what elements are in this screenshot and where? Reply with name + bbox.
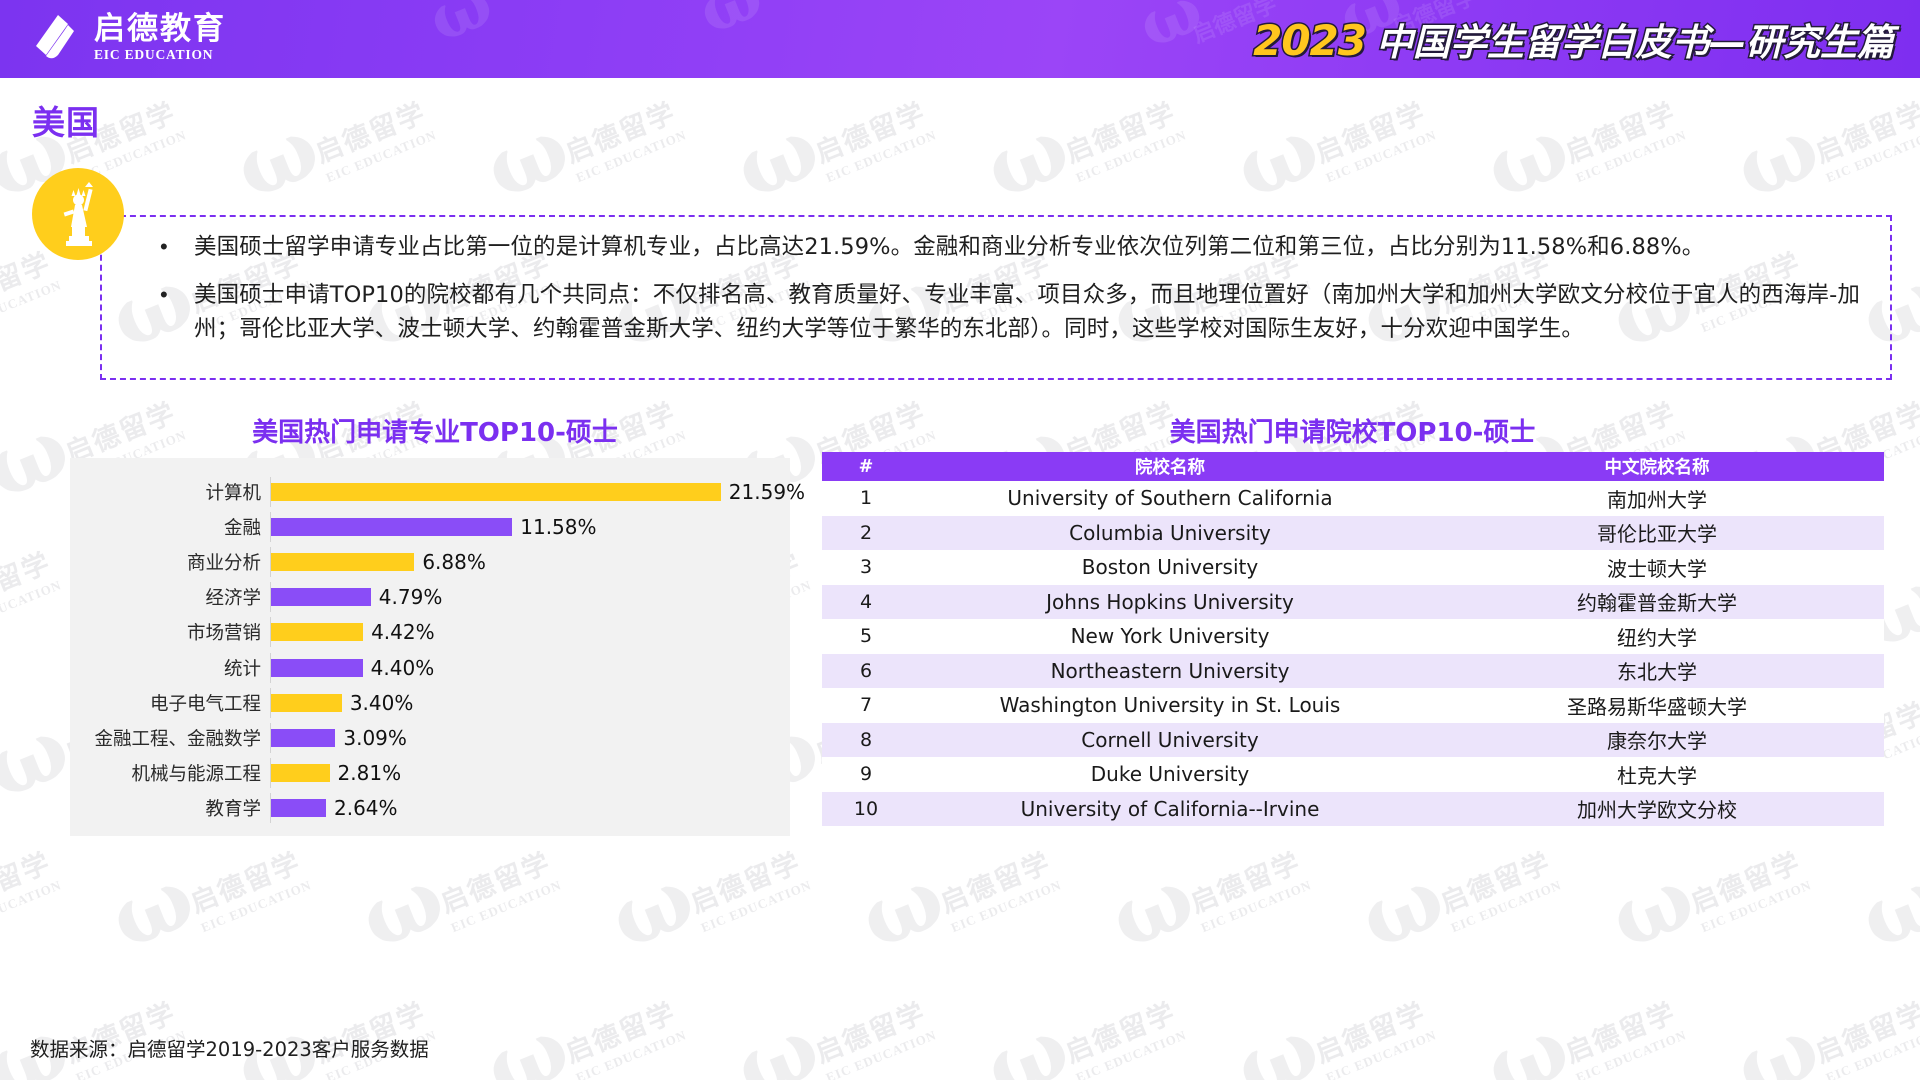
chart-bar[interactable] [271,694,342,712]
chart-bar[interactable] [271,729,335,747]
watermark-text: 启德留学EIC EDUCATION [1059,90,1189,186]
watermark-text: 启德留学EIC EDUCATION [1684,840,1814,936]
list-item: • 美国硕士申请TOP10的院校都有几个共同点：不仅排名高、教育质量好、专业丰富… [160,278,1860,346]
chart-bar[interactable] [271,588,371,606]
cell-english-name: New York University [910,619,1430,654]
chart-bar-row: 市场营销4.42% [70,617,790,647]
statue-of-liberty-icon [32,168,124,260]
chart-bar[interactable] [271,799,326,817]
watermark-u-icon: ω [1349,854,1455,962]
watermark-text: 启德留学EIC EDUCATION [1184,840,1314,936]
data-source-note: 数据来源：启德留学2019-2023客户服务数据 [30,1033,429,1062]
cell-english-name: Washington University in St. Louis [910,688,1430,723]
cell-rank: 4 [822,585,910,620]
logo-text-cn: 启德教育 [94,13,226,46]
chart-bar-track: 6.88% [270,547,790,577]
table-header-row: # 院校名称 中文院校名称 [822,452,1884,481]
watermark-u-icon: ω [724,104,830,212]
chart-bar-track: 2.64% [270,793,790,823]
cell-rank: 1 [822,481,910,516]
chart-value-label: 2.64% [334,796,398,820]
chart-category-label: 金融工程、金融数学 [70,725,270,751]
watermark-u-icon: ω [849,854,955,962]
chart-value-label: 2.81% [338,761,402,785]
watermark-text: 启德留学EIC EDUCATION [184,840,314,936]
watermark-u-icon: ω [1599,854,1705,962]
list-item: • 美国硕士留学申请专业占比第一位的是计算机专业，占比高达21.59%。金融和商… [160,230,1860,264]
callout-bullet-list: • 美国硕士留学申请专业占比第一位的是计算机专业，占比高达21.59%。金融和商… [160,230,1860,360]
watermark-text: 启德留学EIC EDUCATION [1809,90,1920,186]
watermark-text: 启德留学EIC EDUCATION [684,840,814,936]
watermark-u-icon: ω [474,1004,580,1080]
chart-value-label: 11.58% [520,515,596,539]
chart-value-label: 4.42% [371,620,435,644]
chart-bar[interactable] [271,483,721,501]
report-title: 2023 中国学生留学白皮书—研究生篇 [1253,12,1894,66]
chart-bar-row: 金融11.58% [70,512,790,542]
majors-bar-chart: 计算机21.59%金融11.58%商业分析6.88%经济学4.79%市场营销4.… [70,458,790,836]
chart-category-label: 经济学 [70,584,270,610]
watermark-u-icon: ω [974,104,1080,212]
cell-english-name: Cornell University [910,723,1430,758]
cell-chinese-name: 加州大学欧文分校 [1430,792,1884,827]
watermark-u-icon: ω [0,704,80,812]
cell-chinese-name: 圣路易斯华盛顿大学 [1430,688,1884,723]
chart-bar-track: 21.59% [270,477,805,507]
watermark-text: 启德留学EIC EDUCATION [809,990,939,1080]
chart-bar-row: 机械与能源工程2.81% [70,758,790,788]
chart-value-label: 6.88% [422,550,486,574]
watermark-u-icon: ω [1099,854,1205,962]
column-header-chinese-name: 中文院校名称 [1430,452,1884,481]
cell-chinese-name: 约翰霍普金斯大学 [1430,585,1884,620]
logo-text-en: EIC EDUCATION [94,47,226,63]
chart-value-label: 3.40% [350,691,414,715]
chart-bar-row: 商业分析6.88% [70,547,790,577]
watermark-u-icon: ω [1224,1004,1330,1080]
cell-english-name: University of Southern California [910,481,1430,516]
header-watermark: ω [688,0,773,50]
table-row[interactable]: 5New York University纽约大学 [822,619,1884,654]
watermark-text: 启德留学EIC EDUCATION [1059,990,1189,1080]
chart-bar-row: 计算机21.59% [70,477,790,507]
table-row[interactable]: 10University of California--Irvine加州大学欧文… [822,792,1884,827]
cell-rank: 8 [822,723,910,758]
watermark-u-icon: ω [724,1004,830,1080]
watermark-u-icon: ω [1849,854,1920,962]
watermark-u-icon: ω [224,104,330,212]
watermark-text: 启德留学EIC EDUCATION [309,90,439,186]
cell-chinese-name: 波士顿大学 [1430,550,1884,585]
cell-english-name: Columbia University [910,516,1430,551]
chart-category-label: 电子电气工程 [70,690,270,716]
chart-category-label: 计算机 [70,479,270,505]
chart-bar-track: 3.40% [270,688,790,718]
cell-rank: 7 [822,688,910,723]
chart-bar-row: 教育学2.64% [70,793,790,823]
cell-english-name: Northeastern University [910,654,1430,689]
watermark-text: 启德留学EIC EDUCATION [0,240,64,336]
watermark-text: 启德留学EIC EDUCATION [434,840,564,936]
column-header-english-name: 院校名称 [910,452,1430,481]
table-row[interactable]: 2Columbia University哥伦比亚大学 [822,516,1884,551]
chart-bar-row: 电子电气工程3.40% [70,688,790,718]
watermark-text: 启德留学EIC EDUCATION [809,90,939,186]
page-root: ω启德留学EIC EDUCATIONω启德留学EIC EDUCATIONω启德留… [0,0,1920,1080]
watermark-u-icon: ω [349,854,455,962]
chart-bar[interactable] [271,764,330,782]
cell-rank: 5 [822,619,910,654]
report-title-main: 中国学生留学白皮书—研究生篇 [1376,12,1894,66]
watermark-u-icon: ω [1474,1004,1580,1080]
watermark-text: 启德留学EIC EDUCATION [1559,90,1689,186]
bullet-text: 美国硕士申请TOP10的院校都有几个共同点：不仅排名高、教育质量好、专业丰富、项… [194,278,1860,346]
watermark-text: 启德留学EIC EDUCATION [0,540,64,636]
table-row[interactable]: 1University of Southern California南加州大学 [822,481,1884,516]
universities-table: # 院校名称 中文院校名称 1University of Southern Ca… [822,452,1884,826]
watermark-text: 启德留学EIC EDUCATION [0,840,64,936]
chart-bar[interactable] [271,623,363,641]
watermark-u-icon: ω [1224,104,1330,212]
chart-bar[interactable] [271,553,414,571]
cell-chinese-name: 纽约大学 [1430,619,1884,654]
cell-rank: 10 [822,792,910,827]
watermark-u-icon: ω [1724,1004,1830,1080]
bullet-dot-icon: • [160,278,194,312]
watermark-u-icon: ω [974,1004,1080,1080]
watermark-text: 启德留学EIC EDUCATION [1809,990,1920,1080]
chart-bar[interactable] [271,659,363,677]
chart-plot-area: 计算机21.59%金融11.58%商业分析6.88%经济学4.79%市场营销4.… [70,458,790,836]
chart-bar-track: 2.81% [270,758,790,788]
chart-bar-track: 4.42% [270,617,790,647]
cell-rank: 2 [822,516,910,551]
cell-rank: 6 [822,654,910,689]
watermark-text: 启德留学EIC EDUCATION [1559,990,1689,1080]
watermark-u-icon: ω [1724,104,1830,212]
cell-english-name: Johns Hopkins University [910,585,1430,620]
chart-category-label: 市场营销 [70,619,270,645]
chart-category-label: 教育学 [70,795,270,821]
cell-rank: 9 [822,757,910,792]
chart-title: 美国热门申请专业TOP10-硕士 [70,412,800,449]
chart-value-label: 21.59% [729,480,805,504]
table-row[interactable]: 8Cornell University康奈尔大学 [822,723,1884,758]
watermark-u-icon: ω [1474,104,1580,212]
chart-bar[interactable] [271,518,512,536]
watermark-text: 启德留学EIC EDUCATION [559,990,689,1080]
watermark-text: 启德留学EIC EDUCATION [1434,840,1564,936]
report-title-year: 2023 [1253,16,1366,65]
eic-logo-icon [28,11,82,65]
page-title: 美国 [32,96,100,144]
table-row[interactable]: 7Washington University in St. Louis圣路易斯华… [822,688,1884,723]
cell-english-name: Boston University [910,550,1430,585]
chart-bar-row: 经济学4.79% [70,582,790,612]
watermark-u-icon: ω [599,854,705,962]
header-watermark: ω [418,0,503,58]
bullet-dot-icon: • [160,230,194,264]
chart-bar-track: 4.79% [270,582,790,612]
watermark-text: 启德留学EIC EDUCATION [1309,90,1439,186]
chart-category-label: 统计 [70,655,270,681]
bullet-text: 美国硕士留学申请专业占比第一位的是计算机专业，占比高达21.59%。金融和商业分… [194,230,1704,264]
watermark-u-icon: ω [474,104,580,212]
cell-chinese-name: 哥伦比亚大学 [1430,516,1884,551]
cell-rank: 3 [822,550,910,585]
chart-bar-track: 11.58% [270,512,790,542]
table-row[interactable]: 3Boston University波士顿大学 [822,550,1884,585]
cell-chinese-name: 康奈尔大学 [1430,723,1884,758]
cell-english-name: University of California--Irvine [910,792,1430,827]
chart-bar-track: 4.40% [270,653,790,683]
cell-chinese-name: 南加州大学 [1430,481,1884,516]
watermark-text: 启德留学EIC EDUCATION [934,840,1064,936]
app-header: 启德教育 EIC EDUCATION 2023 中国学生留学白皮书—研究生篇 ω… [0,0,1920,78]
chart-bar-row: 统计4.40% [70,653,790,683]
chart-category-label: 商业分析 [70,549,270,575]
chart-bar-track: 3.09% [270,723,790,753]
chart-bar-row: 金融工程、金融数学3.09% [70,723,790,753]
table-row[interactable]: 6Northeastern University东北大学 [822,654,1884,689]
chart-value-label: 3.09% [343,726,407,750]
column-header-rank: # [822,452,910,481]
watermark-u-icon: ω [0,404,80,512]
cell-english-name: Duke University [910,757,1430,792]
watermark-text: 启德留学EIC EDUCATION [559,90,689,186]
table-row[interactable]: 4Johns Hopkins University约翰霍普金斯大学 [822,585,1884,620]
table-row[interactable]: 9Duke University杜克大学 [822,757,1884,792]
table-title: 美国热门申请院校TOP10-硕士 [820,412,1885,449]
chart-value-label: 4.79% [379,585,443,609]
chart-value-label: 4.40% [371,656,435,680]
watermark-u-icon: ω [99,854,205,962]
brand-logo[interactable]: 启德教育 EIC EDUCATION [28,11,226,65]
watermark-text: 启德留学EIC EDUCATION [1309,990,1439,1080]
chart-category-label: 金融 [70,514,270,540]
cell-chinese-name: 东北大学 [1430,654,1884,689]
chart-category-label: 机械与能源工程 [70,760,270,786]
cell-chinese-name: 杜克大学 [1430,757,1884,792]
